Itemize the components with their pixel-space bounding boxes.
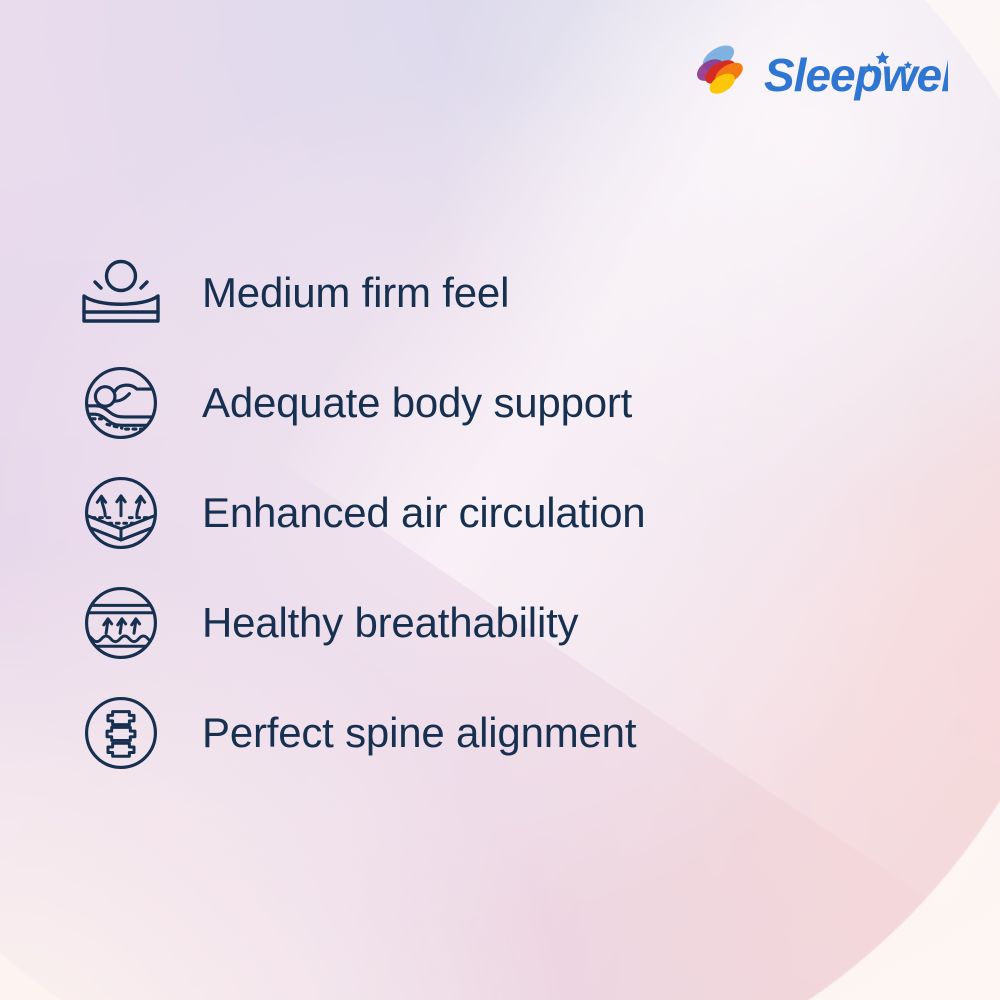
feature-item-enhanced-air-circulation: Enhanced air circulation <box>76 458 936 568</box>
air-circulation-arrows-icon <box>76 474 166 552</box>
feature-label: Medium firm feel <box>202 272 509 314</box>
feature-label: Healthy breathability <box>202 602 578 644</box>
feature-label: Enhanced air circulation <box>202 492 645 534</box>
brand-wordmark-text: Sleepwell <box>764 49 948 101</box>
feature-item-medium-firm-feel: Medium firm feel <box>76 238 936 348</box>
product-feature-graphic: Sleepwell Medium firm feel <box>0 0 1000 1000</box>
feature-label: Perfect spine alignment <box>202 712 636 754</box>
spine-alignment-icon <box>76 694 166 772</box>
feature-item-adequate-body-support: Adequate body support <box>76 348 936 458</box>
feature-item-healthy-breathability: Healthy breathability <box>76 568 936 678</box>
brand-logo: Sleepwell <box>688 40 948 102</box>
feature-list: Medium firm feel <box>76 238 936 788</box>
body-support-sleeper-icon <box>76 364 166 442</box>
feature-item-perfect-spine-alignment: Perfect spine alignment <box>76 678 936 788</box>
brand-wordmark: Sleepwell <box>762 41 948 101</box>
feature-label: Adequate body support <box>202 382 632 424</box>
mattress-firmness-ball-icon <box>76 254 166 332</box>
sleepwell-swirl-icon <box>688 40 750 102</box>
breathability-waves-icon <box>76 584 166 662</box>
